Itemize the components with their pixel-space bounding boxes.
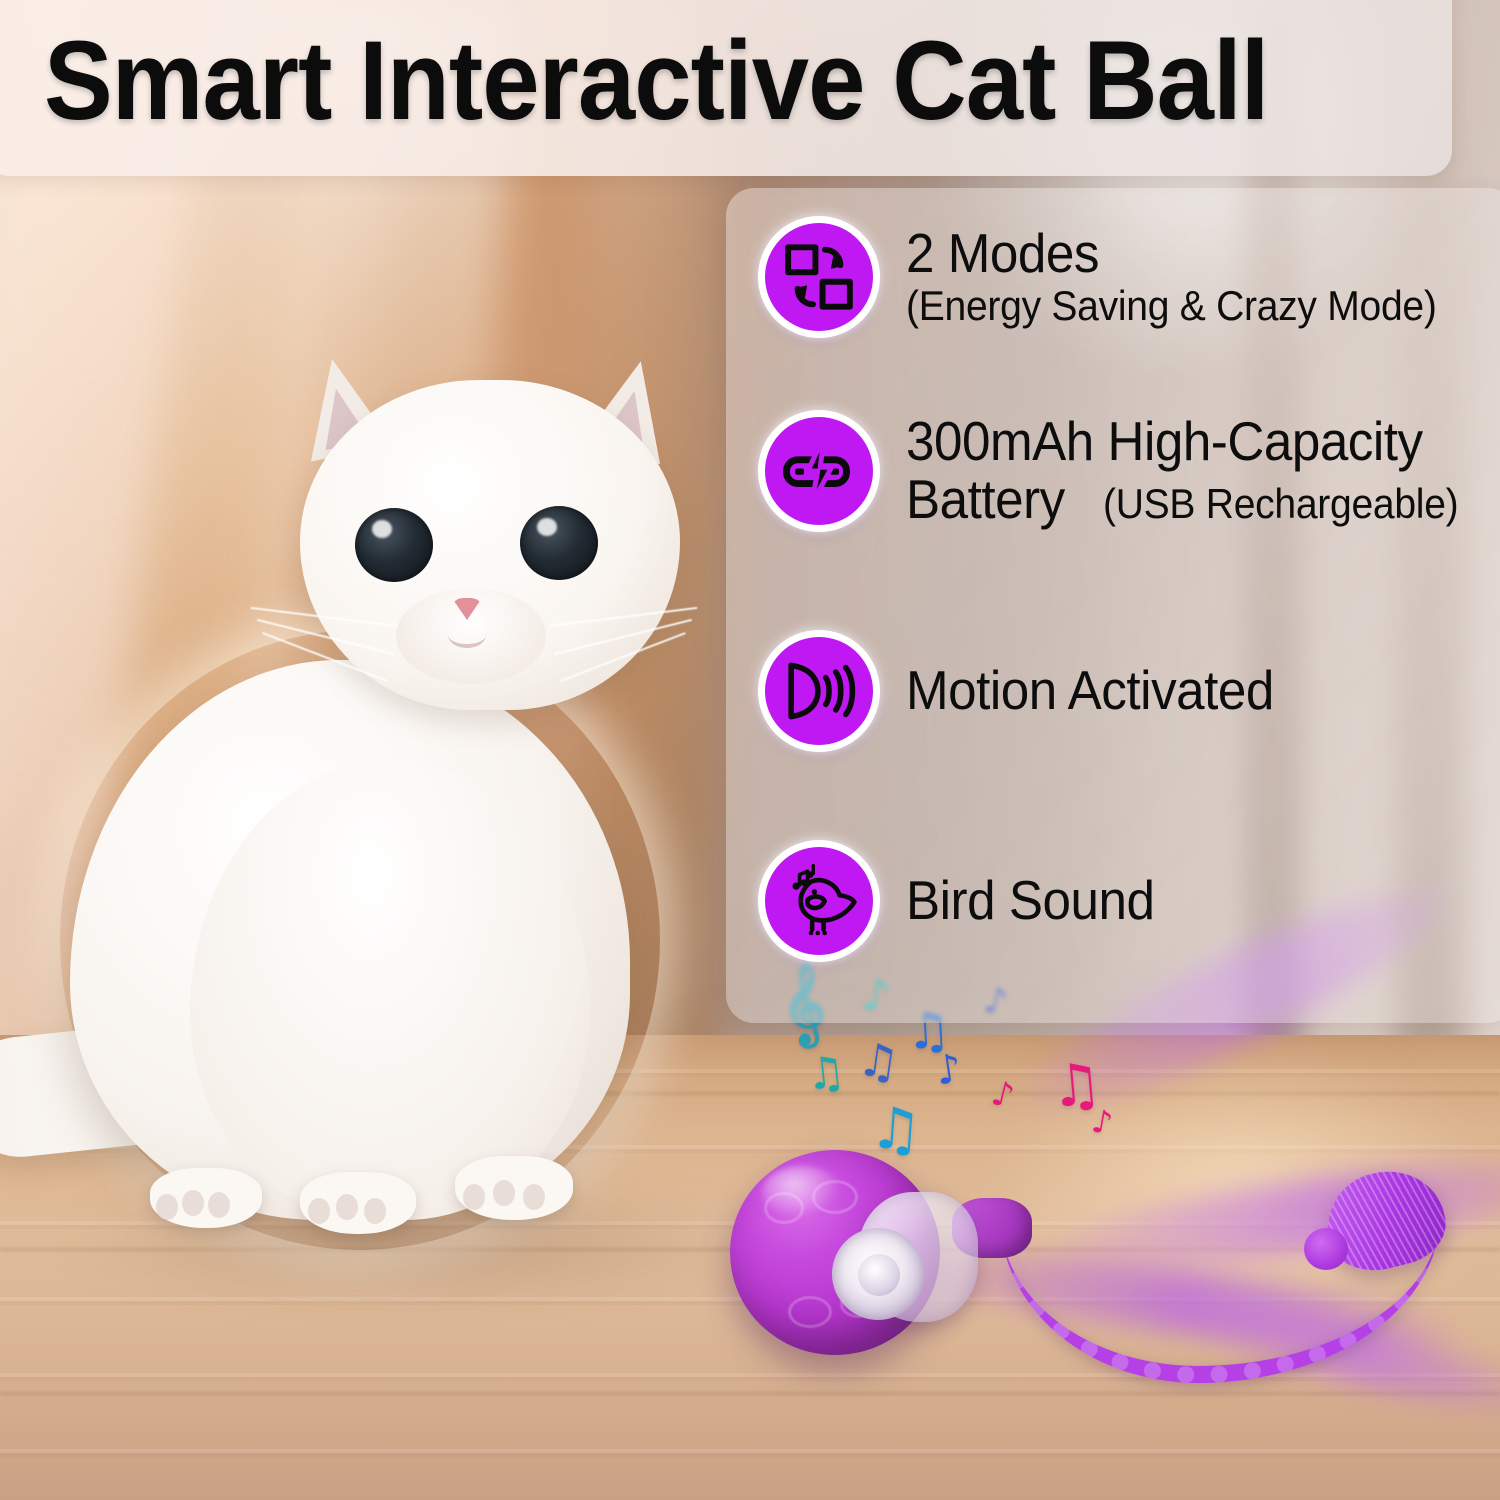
cat-eye-left bbox=[355, 508, 433, 582]
title-banner: Smart Interactive Cat Ball bbox=[0, 0, 1452, 176]
feature-title-battery-line2: Battery bbox=[906, 471, 1065, 529]
product-marketing-image: 𝄞♪♫♪♫♫♪♫♪♫♪ Smart Interactive Cat Ball 2… bbox=[0, 0, 1500, 1500]
feature-title-bird: Bird Sound bbox=[906, 872, 1154, 930]
feature-text-modes: 2 Modes (Energy Saving & Crazy Mode) bbox=[906, 225, 1477, 330]
feature-item-battery: 300mAh High-Capacity Battery (USB Rechar… bbox=[726, 410, 1500, 532]
feature-title-modes: 2 Modes bbox=[906, 225, 1437, 283]
feature-item-bird: Bird Sound bbox=[726, 840, 1500, 962]
cat-photo-subject bbox=[0, 330, 760, 1280]
paw-emboss bbox=[788, 1296, 832, 1328]
cat-paw bbox=[150, 1168, 262, 1228]
battery-lightning-icon bbox=[758, 410, 880, 532]
two-modes-swap-icon bbox=[758, 216, 880, 338]
cat-mouth bbox=[448, 622, 486, 648]
motion-sensor-wave-icon bbox=[758, 630, 880, 752]
cat-paw bbox=[455, 1156, 573, 1220]
feature-title-battery: 300mAh High-Capacity bbox=[906, 413, 1444, 471]
feature-text-bird: Bird Sound bbox=[906, 872, 1173, 930]
feature-text-motion: Motion Activated bbox=[906, 662, 1302, 720]
singing-bird-icon bbox=[758, 840, 880, 962]
cat-paw bbox=[300, 1172, 416, 1234]
product-tassel-knot bbox=[1304, 1228, 1348, 1270]
feature-list: 2 Modes (Energy Saving & Crazy Mode) 300… bbox=[726, 188, 1500, 1023]
feature-item-motion: Motion Activated bbox=[726, 630, 1500, 752]
feature-text-battery: 300mAh High-Capacity Battery (USB Rechar… bbox=[906, 413, 1485, 529]
feature-title-motion: Motion Activated bbox=[906, 662, 1274, 720]
cat-eye-highlight bbox=[537, 518, 557, 536]
product-ball-highlight bbox=[762, 1166, 842, 1218]
feature-subtitle-battery: (USB Rechargeable) bbox=[1103, 480, 1458, 527]
product-cat-ball bbox=[700, 1120, 1500, 1400]
feature-item-modes: 2 Modes (Energy Saving & Crazy Mode) bbox=[726, 216, 1500, 338]
product-clear-core bbox=[858, 1254, 900, 1296]
feature-subtitle-modes: (Energy Saving & Crazy Mode) bbox=[906, 282, 1437, 329]
cat-eye-highlight bbox=[372, 520, 392, 538]
cat-eye-right bbox=[520, 506, 598, 580]
page-title: Smart Interactive Cat Ball bbox=[44, 16, 1268, 145]
